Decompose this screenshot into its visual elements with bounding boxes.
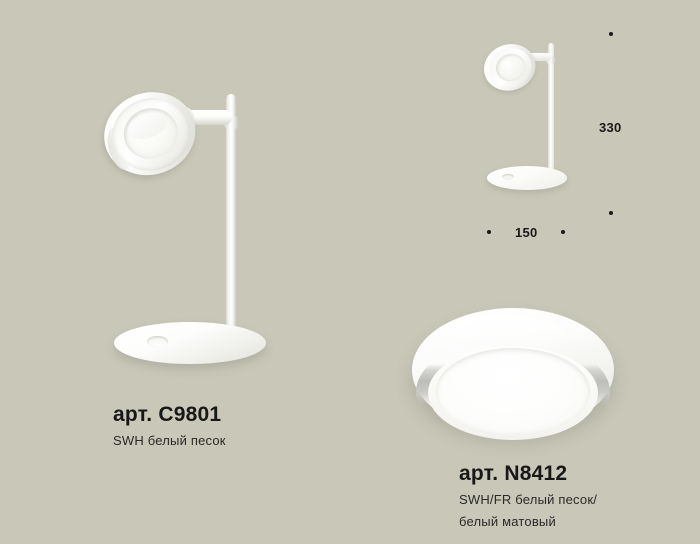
lamp-base — [114, 322, 266, 370]
dim-dot-width-right — [561, 230, 565, 234]
base-switch-small — [502, 174, 514, 180]
downlight-diffuser — [436, 348, 590, 434]
finish-description-c9801: SWH белый песок — [113, 432, 226, 449]
label-c9801: арт. C9801 SWH белый песок — [113, 403, 226, 449]
downlight-n8412-illustration — [412, 308, 614, 454]
desk-lamp-dimension-illustration: 330 150 — [0, 0, 700, 260]
lamp-base-small — [487, 166, 567, 196]
product-catalog-image: 330 150 арт. C9801 SWH белый песок арт. … — [0, 0, 700, 544]
base-switch — [147, 336, 168, 347]
label-n8412: арт. N8412 SWH/FR белый песок/ белый мат… — [459, 462, 597, 530]
dim-dot-bottom-right — [609, 211, 613, 215]
dimension-width-label: 150 — [515, 225, 538, 240]
finish-description-n8412-line2: белый матовый — [459, 513, 597, 530]
lamp-post-small — [548, 43, 554, 185]
lamp-base-top — [114, 322, 266, 364]
dim-dot-width-left — [487, 230, 491, 234]
dim-dot-top-right — [609, 32, 613, 36]
lamp-base-top-small — [487, 166, 567, 190]
lamp-head-small — [477, 34, 545, 102]
finish-description-n8412-line1: SWH/FR белый песок/ — [459, 491, 597, 508]
article-number-c9801: арт. C9801 — [113, 403, 226, 427]
dimension-height-label: 330 — [599, 120, 622, 135]
article-number-n8412: арт. N8412 — [459, 462, 597, 486]
